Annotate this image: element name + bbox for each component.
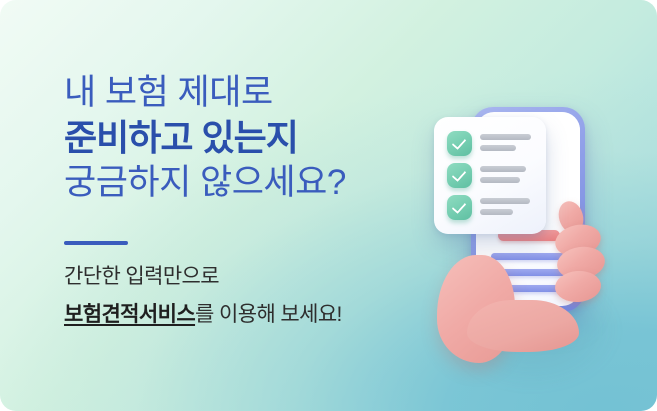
text-line	[480, 177, 520, 183]
headline-line-1: 내 보험 제대로	[64, 70, 454, 115]
divider	[64, 241, 128, 245]
headline-line-3: 궁금하지 않으세요?	[64, 160, 454, 205]
headline-block: 내 보험 제대로 준비하고 있는지 궁금하지 않으세요?	[64, 70, 454, 205]
checklist-card	[434, 117, 546, 234]
subtext-line-1: 간단한 입력만으로	[64, 261, 464, 293]
headline-line-2: 준비하고 있는지	[64, 115, 454, 160]
check-icon	[447, 163, 472, 188]
check-icon	[447, 131, 472, 156]
illustration	[415, 95, 657, 411]
promo-banner[interactable]: 내 보험 제대로 준비하고 있는지 궁금하지 않으세요? 간단한 입력만으로 보…	[0, 0, 657, 411]
subtext-block: 간단한 입력만으로 보험견적서비스를 이용해 보세요!	[64, 261, 464, 331]
text-line	[480, 134, 531, 140]
screen-text-line	[491, 253, 567, 260]
text-line	[480, 166, 526, 172]
text-line	[480, 209, 513, 215]
text-line	[480, 145, 516, 151]
subtext-line-2-rest: 를 이용해 보세요!	[195, 303, 342, 326]
check-icon	[447, 195, 472, 220]
subtext-emphasis: 보험견적서비스	[64, 303, 195, 326]
subtext-line-2: 보험견적서비스를 이용해 보세요!	[64, 299, 464, 331]
hand-palm-bottom	[467, 300, 579, 352]
text-line	[480, 198, 530, 204]
